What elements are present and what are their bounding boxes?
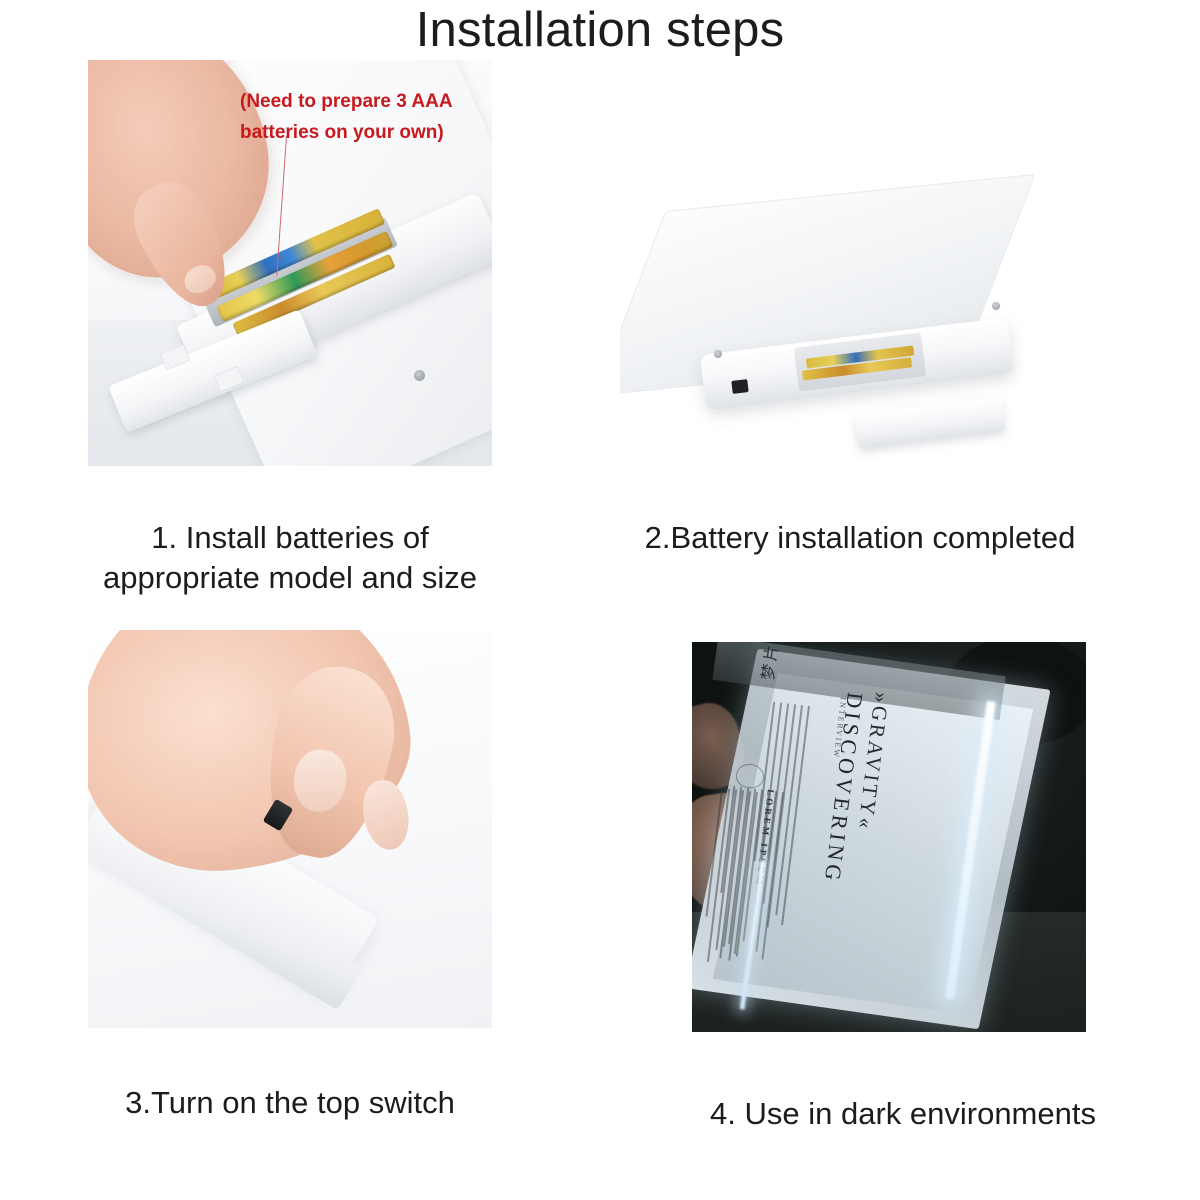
page-title: Installation steps — [0, 4, 1200, 58]
step-3-caption-line-1: 3.Turn on the top switch — [88, 1083, 492, 1123]
step-1-caption-line-2: appropriate model and size — [66, 558, 514, 598]
housing-screw — [414, 370, 425, 381]
step-2-photo — [620, 150, 1100, 480]
step-1-caption: 1. Install batteries of appropriate mode… — [66, 518, 514, 597]
step-2-caption: 2.Battery installation completed — [620, 518, 1100, 558]
step-2: 2.Battery installation completed — [620, 150, 1100, 600]
step-3: 3.Turn on the top switch — [88, 630, 492, 1140]
battery-cover-plate — [854, 397, 1005, 449]
battery-annotation: (Need to prepare 3 AAA batteries on your… — [240, 86, 480, 149]
power-switch — [731, 379, 748, 394]
step-4: 梦片刃 梦易峰不场 INTERVIEW DISCOVERING »GRAVITY… — [692, 642, 1086, 1142]
step-1-photo: (Need to prepare 3 AAA batteries on your… — [88, 60, 492, 466]
step-3-photo — [88, 630, 492, 1028]
housing-screw-right — [992, 302, 1000, 310]
step-3-caption: 3.Turn on the top switch — [88, 1083, 492, 1123]
step-1: (Need to prepare 3 AAA batteries on your… — [88, 60, 492, 600]
step-4-caption: 4. Use in dark environments — [706, 1094, 1100, 1134]
step-4-photo: 梦片刃 梦易峰不场 INTERVIEW DISCOVERING »GRAVITY… — [692, 642, 1086, 1032]
step-1-caption-line-1: 1. Install batteries of — [66, 518, 514, 558]
installation-steps-grid: (Need to prepare 3 AAA batteries on your… — [0, 60, 1200, 1200]
housing-screw-left — [714, 350, 722, 358]
step-4-caption-line-1: 4. Use in dark environments — [706, 1094, 1100, 1134]
battery-annotation-line-2: batteries on your own) — [240, 117, 480, 148]
battery-annotation-line-1: (Need to prepare 3 AAA — [240, 86, 480, 117]
step-2-caption-line-1: 2.Battery installation completed — [620, 518, 1100, 558]
